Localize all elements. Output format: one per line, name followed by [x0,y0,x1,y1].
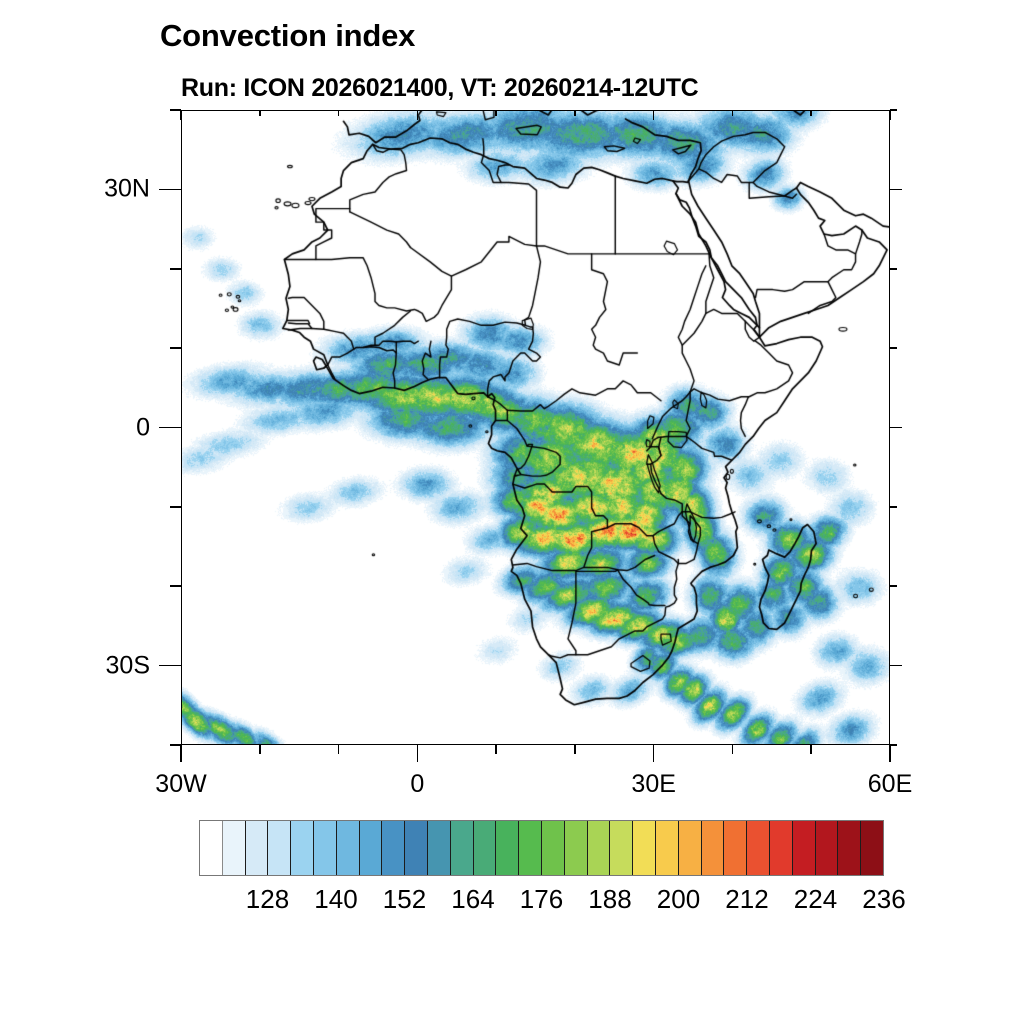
axis-tick [495,745,497,754]
axis-tick [180,745,182,762]
axis-tick [159,427,181,429]
colorbar-label-224: 224 [794,884,837,915]
axis-tick [890,109,897,111]
convection-index-figure: Convection index Run: ICON 2026021400, V… [0,0,1024,1024]
y-axis-label-30N: 30N [60,175,150,204]
axis-tick [170,347,181,349]
colorbar-cell-13 [496,821,519,875]
axis-tick [653,745,655,762]
colorbar-cell-4 [291,821,314,875]
colorbar-cell-21 [679,821,702,875]
axis-tick [180,110,182,120]
colorbar-cell-26 [793,821,816,875]
colorbar-label-188: 188 [588,884,631,915]
colorbar-tick-labels: 128140152164176188200212224236 [199,884,884,918]
axis-tick [890,189,902,191]
colorbar-cell-18 [610,821,633,875]
colorbar-cell-29 [861,821,883,875]
axis-tick [170,109,181,111]
colorbar-label-128: 128 [246,884,289,915]
colorbar-cell-12 [474,821,497,875]
colorbar-cell-28 [838,821,861,875]
axis-tick [889,110,891,120]
axis-tick [810,745,812,754]
page-title: Convection index [160,18,415,54]
colorbar-cell-15 [542,821,565,875]
axis-tick [170,268,181,270]
colorbar-cell-22 [702,821,725,875]
colorbar-cell-11 [451,821,474,875]
colorbar-cell-19 [633,821,656,875]
y-axis-label-30S: 30S [60,651,150,680]
colorbar-label-176: 176 [520,884,563,915]
colorbar-cell-16 [565,821,588,875]
colorbar-cell-2 [246,821,269,875]
colorbar-cell-0 [200,821,223,875]
y-axis-label-0: 0 [60,413,150,442]
colorbar-cell-7 [360,821,383,875]
axis-tick [338,745,340,754]
colorbar-cell-8 [382,821,405,875]
axis-tick [259,745,261,754]
colorbar-cell-27 [816,821,839,875]
axis-tick [259,110,261,116]
axis-tick [890,585,897,587]
axis-tick [170,585,181,587]
x-axis-label-0: 0 [410,770,424,799]
x-axis-label-30W: 30W [155,770,206,799]
axis-tick [653,110,655,120]
axis-tick [810,110,812,116]
axis-tick [417,110,419,120]
colorbar-label-164: 164 [451,884,494,915]
colorbar-cell-14 [519,821,542,875]
x-axis-label-60E: 60E [868,770,912,799]
axis-tick [574,110,576,116]
axis-tick [889,745,891,762]
colorbar-cell-9 [405,821,428,875]
map-plot-area [181,110,890,745]
colorbar-cell-17 [588,821,611,875]
colorbar-label-200: 200 [657,884,700,915]
axis-tick [574,745,576,754]
axis-tick [890,744,897,746]
colorbar-cell-6 [337,821,360,875]
axis-tick [732,745,734,754]
colorbar-label-212: 212 [725,884,768,915]
colorbar-label-236: 236 [862,884,905,915]
figure-subtitle: Run: ICON 2026021400, VT: 20260214-12UTC [181,74,698,103]
colorbar-cell-23 [724,821,747,875]
axis-tick [159,189,181,191]
axis-tick [890,506,897,508]
x-axis-label-30E: 30E [631,770,675,799]
colorbar-cell-3 [268,821,291,875]
colorbar-cell-25 [770,821,793,875]
colorbar-label-152: 152 [383,884,426,915]
colorbar-cell-1 [223,821,246,875]
axis-tick [890,347,897,349]
axis-tick [170,744,181,746]
axis-tick [495,110,497,116]
axis-tick [890,427,902,429]
axis-tick [170,506,181,508]
axis-tick [159,665,181,667]
axis-tick [890,665,902,667]
colorbar-cell-24 [747,821,770,875]
colorbar-cell-5 [314,821,337,875]
convection-field-raster [182,111,890,745]
colorbar-label-140: 140 [314,884,357,915]
axis-tick [890,268,897,270]
axis-tick [732,110,734,116]
axis-tick [338,110,340,116]
colorbar [199,820,884,876]
colorbar-cell-10 [428,821,451,875]
colorbar-cell-20 [656,821,679,875]
axis-tick [417,745,419,762]
